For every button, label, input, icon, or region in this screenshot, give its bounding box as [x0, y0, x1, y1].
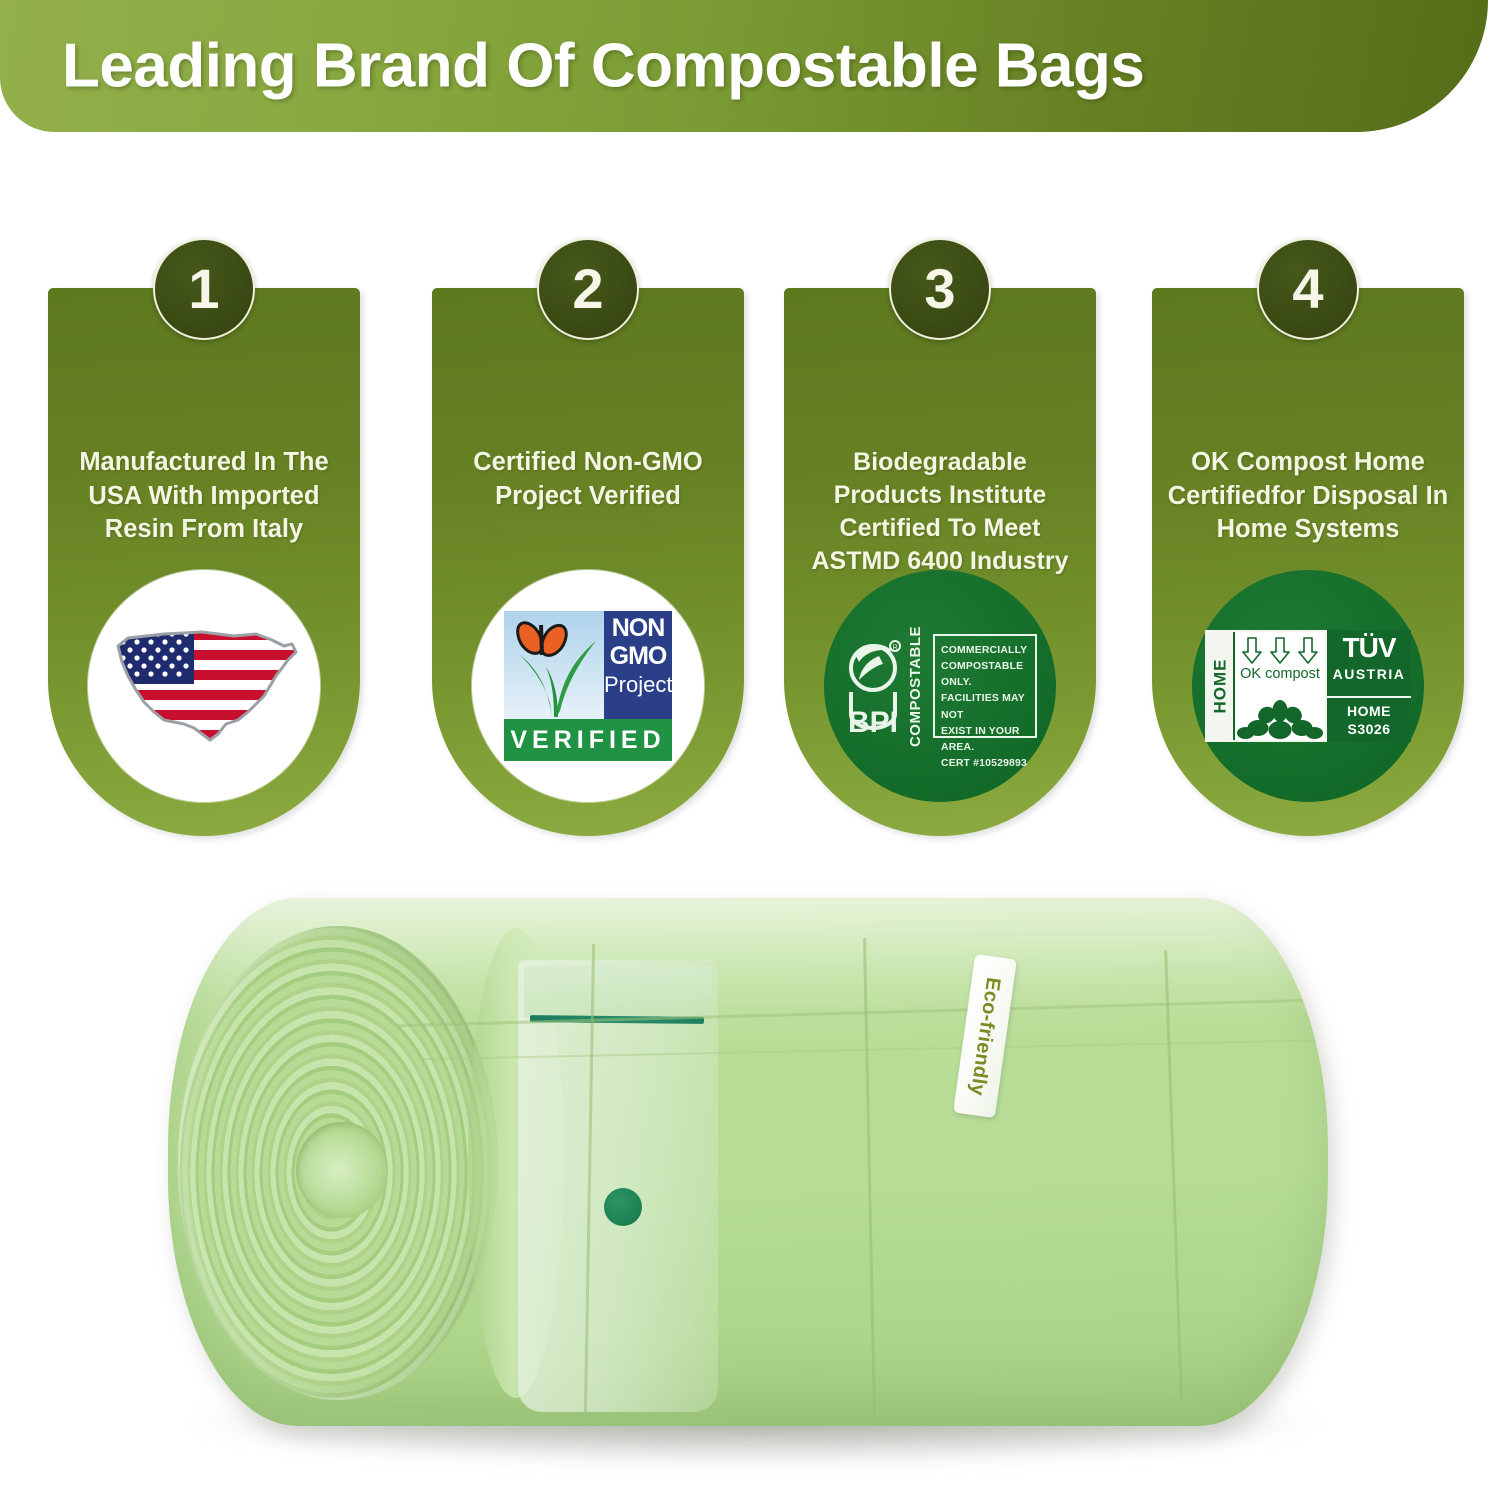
- tuv-austria-ok-compost-home-logo: HOME: [1205, 630, 1411, 742]
- page-title: Leading Brand Of Compostable Bags: [62, 31, 1144, 102]
- bpi-cert-number: CERT #10529893: [941, 756, 1030, 772]
- step-number-badge-4: 4: [1257, 238, 1359, 340]
- down-arrow-icon-2: [1269, 637, 1291, 665]
- step-number-badge-2: 2: [537, 238, 639, 340]
- feature-card-1: 1 Manufactured In The USA With Imported …: [48, 288, 360, 836]
- non-gmo-logo-top: NON GMO Project: [504, 611, 672, 719]
- tuv-home-label: HOME: [1327, 703, 1411, 719]
- non-gmo-text-block: NON GMO Project: [604, 611, 672, 719]
- eco-friendly-label: Eco-friendly: [965, 975, 1004, 1096]
- feature-cards-row: 1 Manufactured In The USA With Imported …: [0, 236, 1500, 856]
- svg-text:R: R: [892, 645, 897, 652]
- non-gmo-line-2: GMO: [604, 644, 672, 669]
- header-banner: Leading Brand Of Compostable Bags: [0, 0, 1488, 132]
- tuv-wordmark: TÜV: [1327, 634, 1411, 662]
- roll-frosted-panel: [518, 960, 718, 1412]
- tuv-ok-compost-badge: HOME: [1192, 570, 1424, 802]
- bpi-disclaimer-line-2: COMPOSTABLE ONLY.: [941, 659, 1030, 691]
- feature-card-1-text: Manufactured In The USA With Imported Re…: [62, 446, 346, 547]
- feature-card-2-text: Certified Non-GMO Project Verified: [446, 446, 730, 513]
- feature-card-2: 2 Certified Non-GMO Project Verified: [432, 288, 744, 836]
- feature-card-3: 3 Biodegradable Products Institute Certi…: [784, 288, 1096, 836]
- roll-panel-strip: [524, 966, 712, 1018]
- home-vertical-text: HOME: [1210, 659, 1230, 714]
- non-gmo-verified-bar: VERIFIED: [504, 719, 672, 761]
- compostable-bag-roll: Eco-friendly: [168, 898, 1328, 1426]
- non-gmo-badge: NON GMO Project VERIFIED: [472, 570, 704, 802]
- non-gmo-line-1: NON: [604, 616, 672, 641]
- bpi-disclaimer-line-1: COMMERCIALLY: [941, 643, 1030, 659]
- tuv-logo-area: TÜV AUSTRIA: [1327, 630, 1411, 698]
- non-gmo-line-3: Project: [604, 674, 672, 696]
- ok-compost-panel: HOME: [1205, 630, 1327, 742]
- bpi-leaf-mark-icon: R BPI: [843, 634, 903, 738]
- step-number-badge-3: 3: [889, 238, 991, 340]
- tuv-cert-area: HOME S3026: [1327, 698, 1411, 742]
- bpi-compostable-vertical-label: COMPOSTABLE: [905, 632, 927, 740]
- roll-coil-end: [178, 926, 498, 1400]
- bpi-disclaimer-box: COMMERCIALLY COMPOSTABLE ONLY. FACILITIE…: [933, 634, 1037, 738]
- butterfly-icon: [518, 623, 567, 655]
- down-arrow-icon-1: [1241, 637, 1263, 665]
- bpi-compostable-text: COMPOSTABLE: [908, 625, 925, 746]
- product-photo: Eco-friendly: [0, 856, 1500, 1490]
- bpi-disclaimer-line-4: EXIST IN YOUR AREA.: [941, 724, 1030, 756]
- non-gmo-project-verified-logo: NON GMO Project VERIFIED: [504, 611, 672, 761]
- down-arrows-icon-group: [1235, 637, 1325, 665]
- feature-card-4: 4 OK Compost Home Certifiedfor Disposal …: [1152, 288, 1464, 836]
- ok-compost-inner: OK compost: [1233, 632, 1325, 740]
- bpi-compostable-logo: R BPI COMPOSTABLE COMMERCIALLY COMPOSTAB…: [841, 630, 1039, 742]
- tuv-austria-panel: TÜV AUSTRIA HOME S3026: [1327, 630, 1411, 742]
- usa-flag-map-icon: [106, 616, 302, 756]
- svg-text:BPI: BPI: [848, 706, 898, 738]
- down-arrow-icon-3: [1297, 637, 1319, 665]
- non-gmo-sky-panel: [504, 611, 604, 719]
- home-vertical-label: HOME: [1207, 632, 1233, 740]
- step-number-badge-1: 1: [153, 238, 255, 340]
- bpi-badge: R BPI COMPOSTABLE COMMERCIALLY COMPOSTAB…: [824, 570, 1056, 802]
- usa-flag-map-badge: [88, 570, 320, 802]
- roll-dot-sticker: [604, 1188, 642, 1226]
- tuv-austria-label: AUSTRIA: [1327, 666, 1411, 682]
- roll-coil-core: [296, 1122, 388, 1218]
- bpi-disclaimer-line-3: FACILITIES MAY NOT: [941, 691, 1030, 723]
- ok-compost-label: OK compost: [1235, 666, 1325, 682]
- feature-card-4-text: OK Compost Home Certifiedfor Disposal In…: [1166, 446, 1450, 547]
- compost-flower-icon: [1235, 697, 1325, 739]
- tuv-cert-code: S3026: [1327, 721, 1411, 737]
